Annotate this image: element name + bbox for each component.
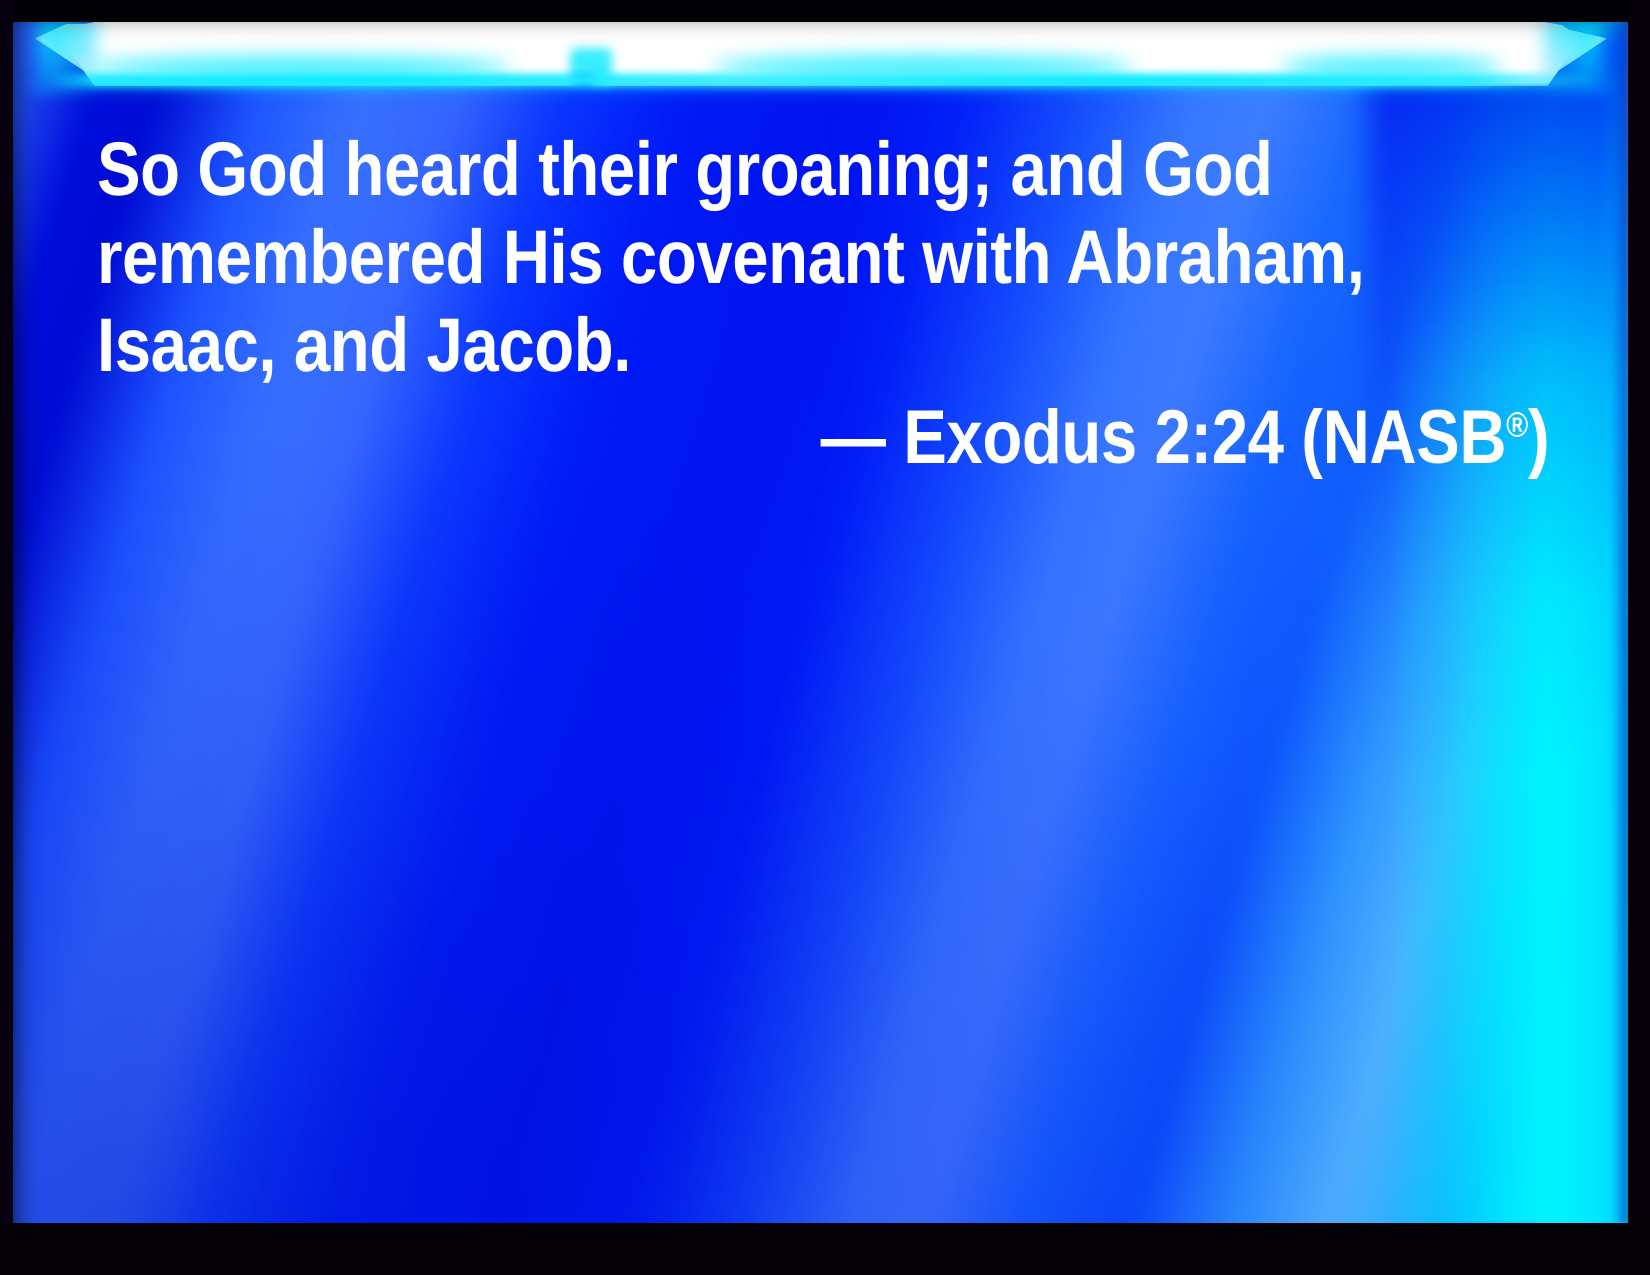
verse-slide: So God heard their groaning; and God rem… bbox=[0, 0, 1650, 1275]
frame-border-top bbox=[0, 0, 1650, 22]
verse-line-3: Isaac, and Jacob. bbox=[97, 302, 1346, 390]
frame-border-bottom bbox=[0, 1223, 1650, 1275]
slide-canvas: So God heard their groaning; and God rem… bbox=[13, 22, 1628, 1223]
verse-attribution: — Exodus 2:24 (NASB®) bbox=[97, 394, 1549, 482]
registered-trademark-icon: ® bbox=[1506, 406, 1528, 445]
frame-border-left bbox=[0, 0, 13, 1275]
top-band-under-glow bbox=[31, 82, 1611, 98]
verse-line-2: remembered His covenant with Abraham, bbox=[97, 214, 1346, 302]
top-highlight-band bbox=[13, 22, 1628, 100]
verse-line-1: So God heard their groaning; and God bbox=[97, 126, 1346, 214]
frame-border-right bbox=[1628, 0, 1650, 1275]
verse-attribution-inner: — Exodus 2:24 (NASB®) bbox=[820, 394, 1549, 482]
verse-text-block: So God heard their groaning; and God rem… bbox=[97, 126, 1549, 390]
verse-attribution-prefix: — Exodus 2:24 (NASB bbox=[820, 395, 1506, 480]
verse-attribution-suffix: ) bbox=[1528, 395, 1549, 480]
